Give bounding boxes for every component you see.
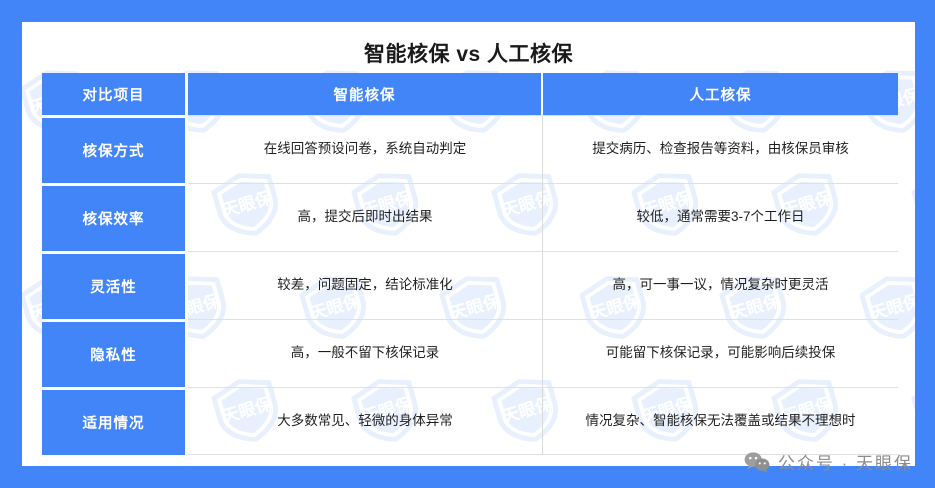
watermark-shield-icon: 天眼保 bbox=[908, 373, 915, 447]
comparison-table-container: 对比项目 智能核保 人工核保 核保方式在线回答预设问卷，系统自动判定提交病历、检… bbox=[42, 73, 898, 455]
table-row: 核保效率高，提交后即时出结果较低，通常需要3-7个工作日 bbox=[42, 183, 898, 251]
row-smart-cell: 较差，问题固定，结论标准化 bbox=[188, 251, 543, 319]
row-smart-cell: 高，一般不留下核保记录 bbox=[188, 319, 543, 387]
row-label-cell: 核保效率 bbox=[42, 183, 188, 251]
row-manual-cell: 高，可一事一议，情况复杂时更灵活 bbox=[543, 251, 898, 319]
header-cell-label: 对比项目 bbox=[42, 73, 188, 115]
footer-brand: 公众号 · 天眼保 bbox=[744, 449, 913, 474]
row-manual-cell: 较低，通常需要3-7个工作日 bbox=[543, 183, 898, 251]
row-label-cell: 隐私性 bbox=[42, 319, 188, 387]
row-smart-cell: 高，提交后即时出结果 bbox=[188, 183, 543, 251]
table-row: 适用情况大多数常见、轻微的身体异常情况复杂、智能核保无法覆盖或结果不理想时 bbox=[42, 387, 898, 455]
footer-label: 公众号 · 天眼保 bbox=[778, 449, 913, 474]
row-label-cell: 核保方式 bbox=[42, 115, 188, 183]
wechat-icon bbox=[744, 451, 770, 473]
row-manual-cell: 提交病历、检查报告等资料，由核保员审核 bbox=[543, 115, 898, 183]
table-header-row: 对比项目 智能核保 人工核保 bbox=[42, 73, 898, 115]
table-head: 对比项目 智能核保 人工核保 bbox=[42, 73, 898, 115]
page-title: 智能核保 vs 人工核保 bbox=[22, 38, 915, 68]
row-label-cell: 灵活性 bbox=[42, 251, 188, 319]
table-row: 灵活性较差，问题固定，结论标准化高，可一事一议，情况复杂时更灵活 bbox=[42, 251, 898, 319]
screenshot-root: 天眼保天眼保天眼保天眼保天眼保天眼保天眼保天眼保天眼保天眼保天眼保天眼保天眼保天… bbox=[0, 0, 935, 488]
table-row: 核保方式在线回答预设问卷，系统自动判定提交病历、检查报告等资料，由核保员审核 bbox=[42, 115, 898, 183]
row-smart-cell: 在线回答预设问卷，系统自动判定 bbox=[188, 115, 543, 183]
watermark-shield-icon: 天眼保 bbox=[908, 167, 915, 241]
header-cell-smart: 智能核保 bbox=[188, 73, 543, 115]
comparison-table: 对比项目 智能核保 人工核保 核保方式在线回答预设问卷，系统自动判定提交病历、检… bbox=[42, 73, 898, 455]
row-manual-cell: 情况复杂、智能核保无法覆盖或结果不理想时 bbox=[543, 387, 898, 455]
table-body: 核保方式在线回答预设问卷，系统自动判定提交病历、检查报告等资料，由核保员审核核保… bbox=[42, 115, 898, 455]
header-cell-manual: 人工核保 bbox=[543, 73, 898, 115]
table-row: 隐私性高，一般不留下核保记录可能留下核保记录，可能影响后续投保 bbox=[42, 319, 898, 387]
content-card: 天眼保天眼保天眼保天眼保天眼保天眼保天眼保天眼保天眼保天眼保天眼保天眼保天眼保天… bbox=[22, 22, 915, 466]
row-manual-cell: 可能留下核保记录，可能影响后续投保 bbox=[543, 319, 898, 387]
row-smart-cell: 大多数常见、轻微的身体异常 bbox=[188, 387, 543, 455]
row-label-cell: 适用情况 bbox=[42, 387, 188, 455]
